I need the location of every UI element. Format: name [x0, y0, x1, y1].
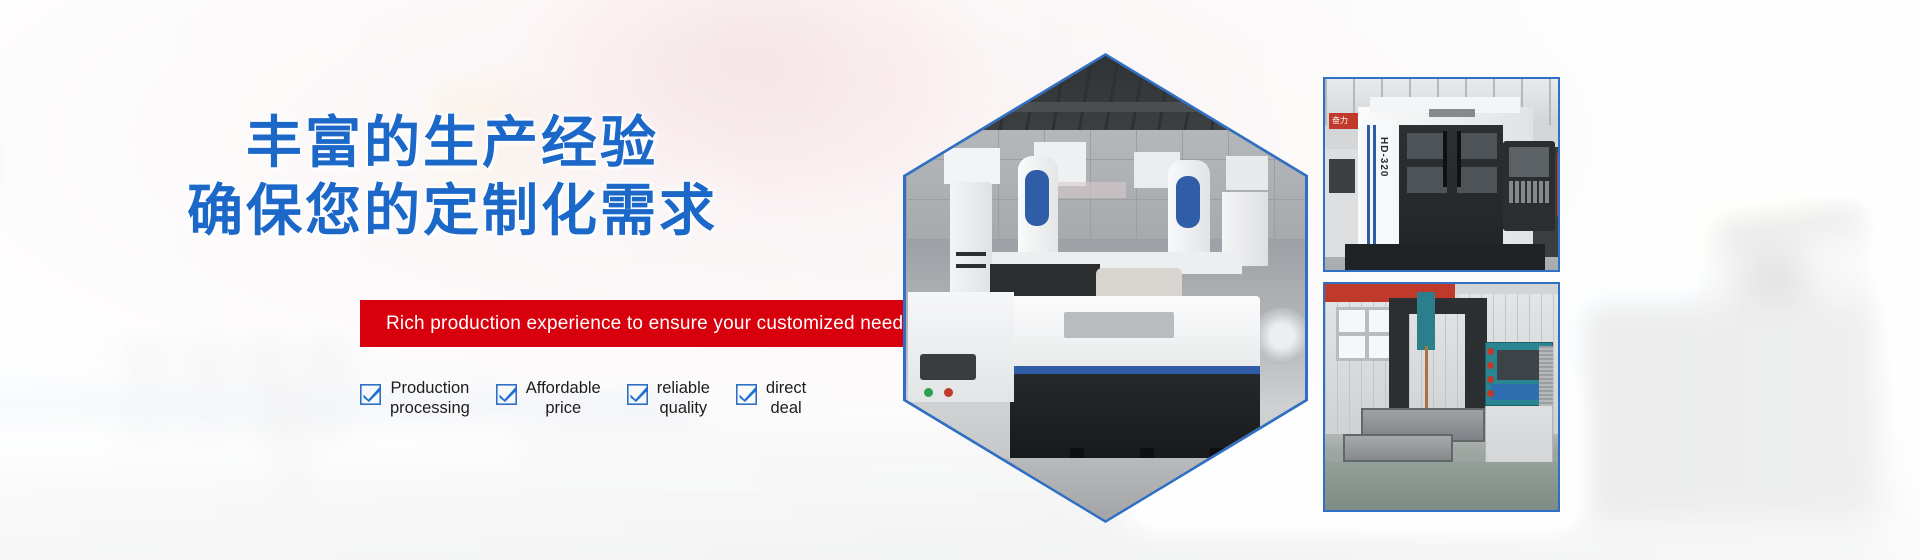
feature-label: Affordable price: [526, 375, 601, 418]
subtitle-red-banner: Rich production experience to ensure you…: [360, 300, 908, 347]
thumbnail-cnc-wire-edm-machine[interactable]: [1323, 282, 1560, 512]
headline-line-2: 确保您的定制化需求: [0, 178, 905, 246]
cnc-double-head-milling-machine-photo: [906, 56, 1305, 520]
feature-item-reliable-quality[interactable]: reliable quality: [627, 375, 710, 418]
feature-label: reliable quality: [657, 375, 710, 418]
checkbox-checked-icon: [736, 384, 757, 405]
thumbnail-hd-320-machining-center[interactable]: 奋力 HD-320: [1323, 77, 1560, 272]
checkbox-checked-icon: [496, 384, 517, 405]
feature-label: Production processing: [390, 375, 470, 418]
banner-content: 丰富的生产经验 确保您的定制化需求 Rich production experi…: [0, 0, 1920, 560]
headline-line-1: 丰富的生产经验: [0, 110, 905, 178]
checkbox-checked-icon: [627, 384, 648, 405]
feature-label: direct deal: [766, 375, 806, 418]
hexagon-hero-image[interactable]: [903, 53, 1308, 523]
headline-block: 丰富的生产经验 确保您的定制化需求: [0, 110, 905, 246]
feature-item-affordable-price[interactable]: Affordable price: [496, 375, 601, 418]
feature-item-production-processing[interactable]: Production processing: [360, 375, 470, 418]
feature-list: Production processing Affordable price r…: [360, 375, 908, 418]
machine-model-label: HD-320: [1359, 137, 1389, 213]
feature-item-direct-deal[interactable]: direct deal: [736, 375, 806, 418]
checkbox-checked-icon: [360, 384, 381, 405]
subtitle-text: Rich production experience to ensure you…: [360, 313, 913, 335]
